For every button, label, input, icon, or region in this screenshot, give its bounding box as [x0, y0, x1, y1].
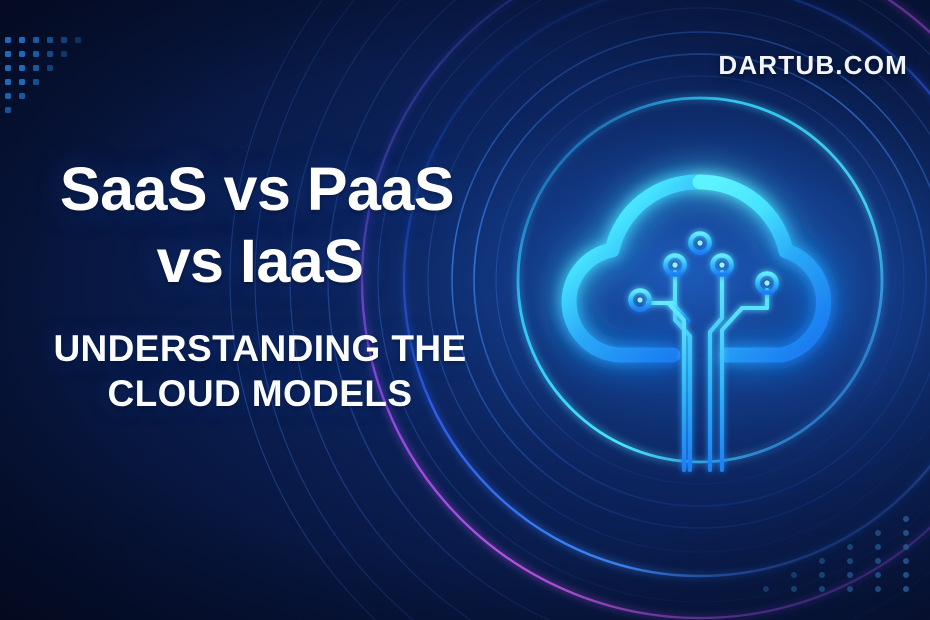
- page-subtitle-line-1: UNDERSTANDING THE: [0, 326, 520, 371]
- dot-grid-bottom-right: [763, 516, 909, 592]
- circuit-node: [758, 274, 777, 293]
- circuit-node: [713, 256, 732, 275]
- title-graphic-canvas: DARTUB.COM SaaS vs PaaS vs IaaS UNDERSTA…: [0, 0, 930, 620]
- page-subtitle-line-2: CLOUD MODELS: [0, 371, 520, 416]
- dot-grid-top-left: [5, 37, 81, 113]
- page-subtitle: UNDERSTANDING THE CLOUD MODELS: [0, 326, 520, 416]
- circuit-node: [666, 256, 685, 275]
- circuit-node: [631, 291, 650, 310]
- page-title-line-1: SaaS vs PaaS: [0, 160, 520, 220]
- page-title-line-2: vs IaaS: [0, 232, 520, 292]
- brand-logo-text: DARTUB.COM: [718, 50, 908, 81]
- circuit-node: [691, 234, 710, 253]
- headline-block: SaaS vs PaaS vs IaaS UNDERSTANDING THE C…: [0, 160, 520, 416]
